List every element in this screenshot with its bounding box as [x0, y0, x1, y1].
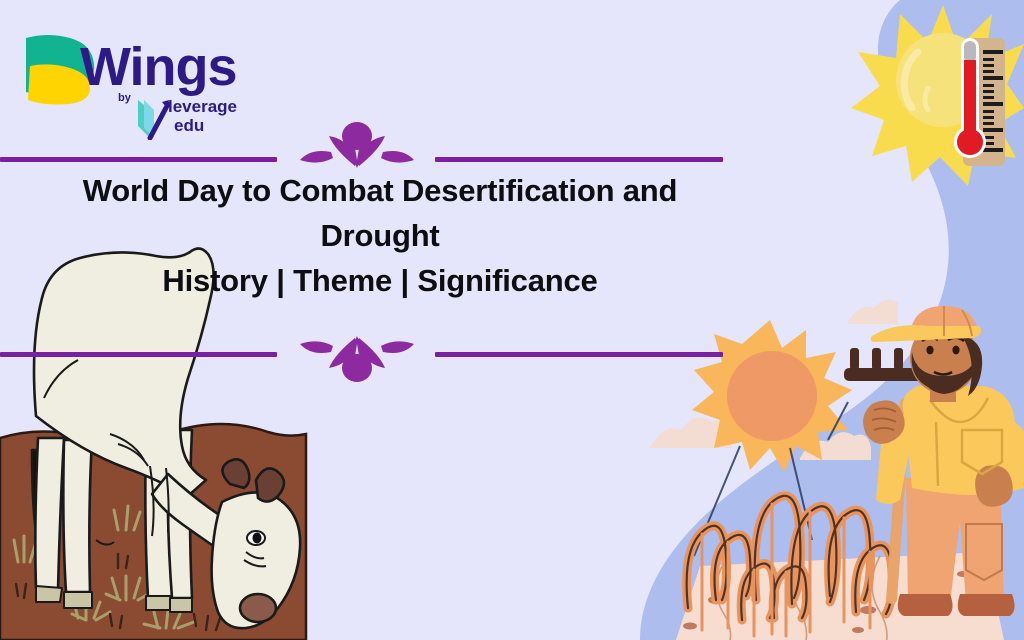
floral-ornament-up	[297, 122, 417, 170]
cow-leg-hind-b	[63, 440, 92, 592]
logo-byline: by	[118, 92, 131, 104]
rule-bottom-right	[435, 352, 723, 357]
cow-leg-hind-a	[35, 438, 64, 590]
rule-bottom-left	[0, 352, 277, 357]
rule-top-left	[0, 157, 277, 162]
farmer-boot-right	[958, 594, 1015, 616]
logo-sub-edu: edu	[174, 117, 204, 134]
cow-muzzle	[240, 594, 276, 622]
title-line-2: Drought	[0, 213, 760, 258]
leverage-edu-check-icon	[134, 98, 170, 140]
thermometer-icon	[954, 38, 1005, 166]
title-line-3: History | Theme | Significance	[0, 258, 760, 303]
page-title: World Day to Combat Desertification and …	[0, 168, 760, 303]
title-line-1: World Day to Combat Desertification and	[0, 168, 760, 213]
logo-sub-leverage: leverage	[168, 98, 237, 115]
rule-top-right	[435, 157, 723, 162]
farmer-hand-right	[975, 465, 1013, 506]
poster-canvas: Wings by leverage edu	[0, 0, 1024, 640]
logo-wordmark: Wings	[80, 36, 237, 98]
floral-ornament-down	[297, 334, 417, 382]
farmer-boot-left	[898, 594, 953, 616]
logo-block[interactable]: Wings by leverage edu	[22, 30, 252, 140]
